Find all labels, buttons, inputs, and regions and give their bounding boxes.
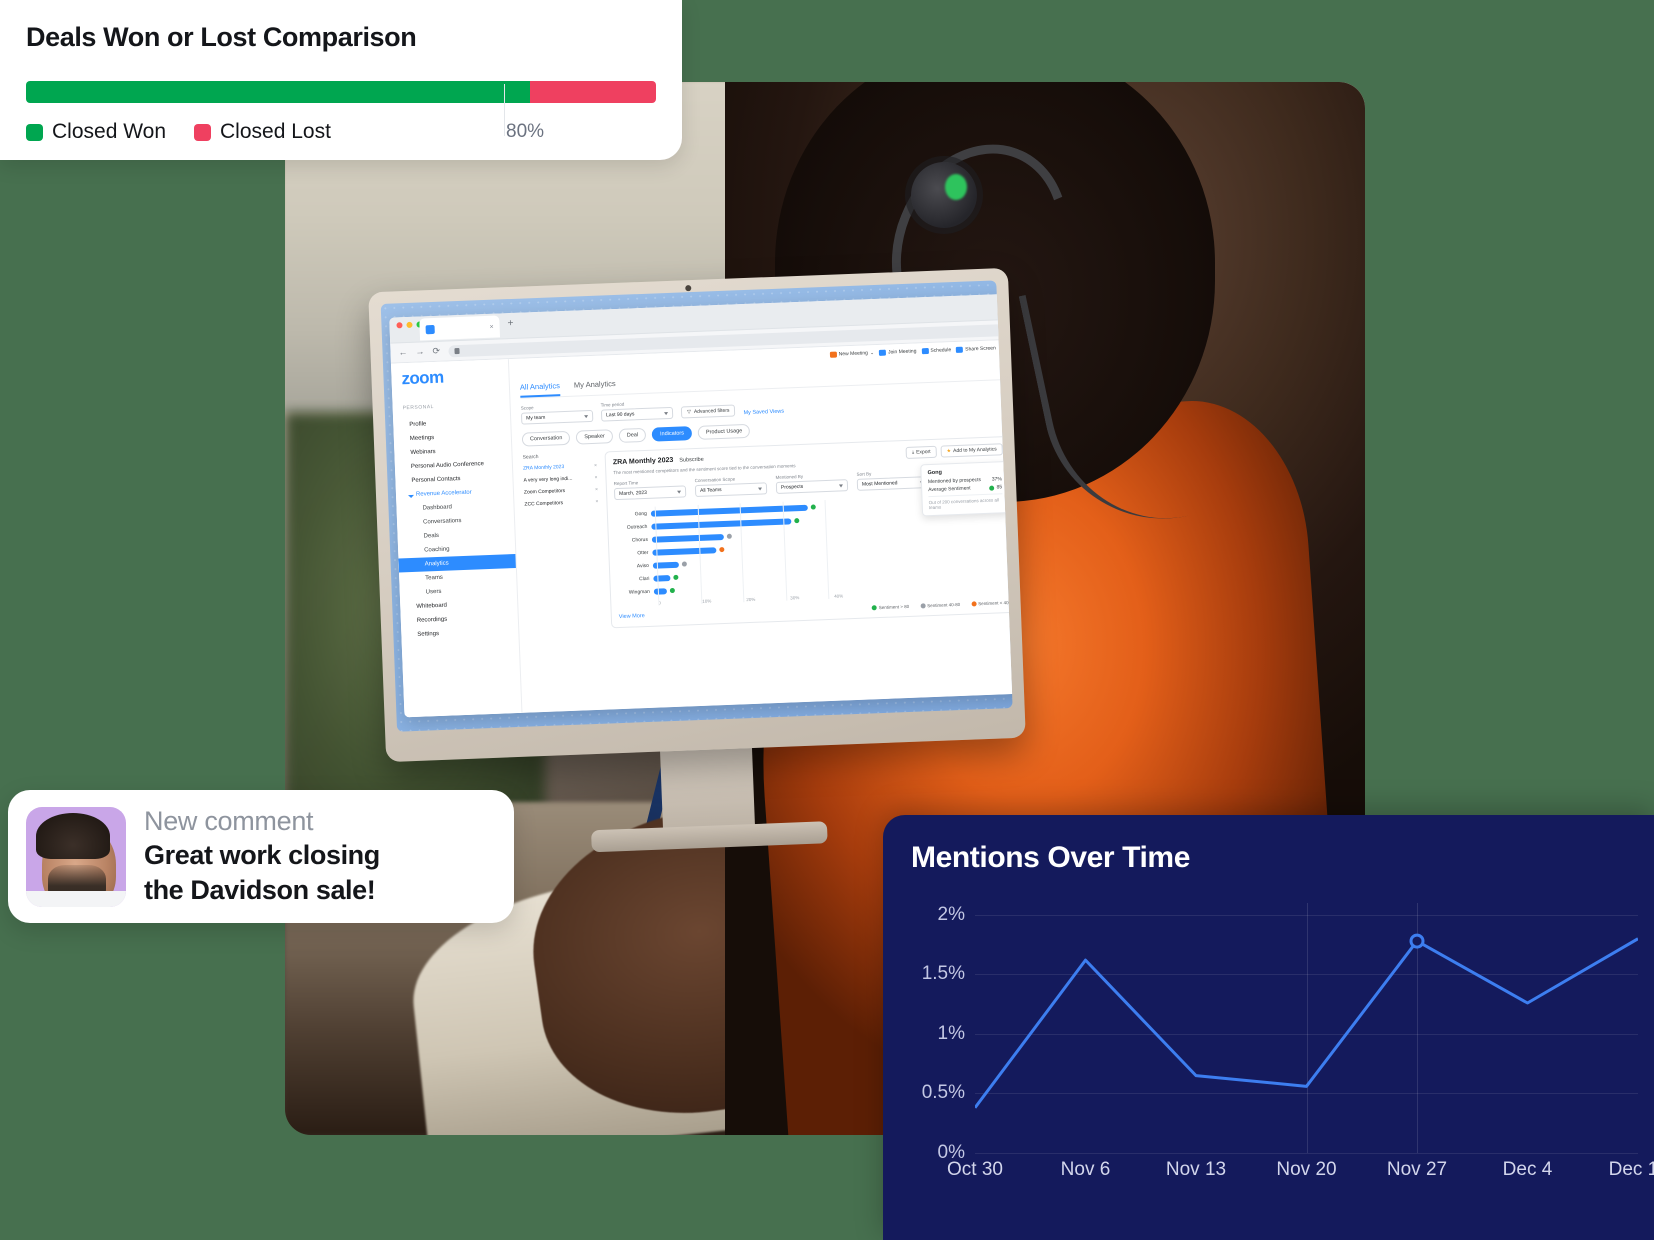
scope-filter: Scope My team	[521, 403, 594, 425]
deals-percent-value: 80%	[506, 121, 544, 143]
sentiment-dot-icon	[670, 588, 675, 593]
filter-icon: ▽	[687, 409, 691, 415]
y-tick-label: 1.5%	[922, 963, 965, 985]
close-window-icon[interactable]	[396, 322, 402, 328]
search-label: Search	[523, 452, 597, 461]
mentions-line-series	[975, 903, 1638, 1153]
x-axis-labels: Oct 30Nov 6Nov 13Nov 20Nov 27Dec 4Dec 11	[975, 1159, 1638, 1189]
deals-comparison-card: Deals Won or Lost Comparison Closed Won …	[0, 0, 682, 160]
closed-won-segment	[26, 81, 530, 103]
closed-lost-segment	[530, 81, 656, 103]
avatar[interactable]	[1001, 344, 1009, 352]
y-tick-label: 1%	[938, 1023, 965, 1045]
x-tick-label: Oct 30	[947, 1159, 1003, 1181]
conversation-scope-filter: Conversation Scope All Teams	[695, 475, 768, 497]
x-tick-label: 40%	[834, 592, 878, 599]
x-tick-label: Nov 20	[1276, 1159, 1336, 1181]
tab-all-analytics[interactable]: All Analytics	[520, 381, 561, 398]
bar-category-label: Wingman	[618, 588, 654, 595]
share-screen-icon	[956, 347, 963, 353]
app-sidebar: PERSONAL Profile Meetings Webinars Perso…	[391, 359, 523, 717]
search-chip[interactable]: ZRA Monthly 2023 ×	[523, 463, 597, 472]
report-title: ZRA Monthly 2023	[613, 457, 674, 466]
closed-lost-label: Closed Lost	[220, 120, 331, 144]
legend-label: Sentiment < 40	[978, 600, 1009, 606]
report-time-value: March, 2023	[619, 490, 647, 497]
pill-product-usage[interactable]: Product Usage	[698, 424, 751, 440]
share-screen-button[interactable]: Share Screen	[956, 345, 996, 353]
avatar	[26, 807, 126, 907]
tooltip-row-label: Average Sentiment	[928, 485, 971, 493]
close-tab-icon[interactable]: ×	[489, 323, 493, 330]
x-tick-label: Nov 6	[1061, 1159, 1111, 1181]
page-title: Deals Won or Lost Comparison	[26, 22, 656, 53]
advanced-filters-label: Advanced filters	[694, 408, 730, 415]
chart-tooltip: Gong Mentioned by prospects 37% Average …	[920, 461, 1010, 516]
closed-won-swatch-icon	[26, 124, 43, 141]
legend-item: Sentiment 40-80	[917, 601, 960, 608]
export-icon: ⤓	[912, 450, 914, 456]
comment-text: New comment Great work closing the David…	[144, 806, 380, 907]
sentiment-dot-icon	[727, 534, 732, 539]
zoom-logo[interactable]: zoom	[401, 368, 444, 390]
legend-item: Sentiment > 80	[869, 603, 910, 610]
close-icon[interactable]: ×	[595, 499, 598, 505]
x-tick-label: Dec 4	[1503, 1159, 1553, 1181]
headset-earcup	[911, 162, 977, 228]
tooltip-row-value: 37%	[992, 476, 1002, 482]
schedule-label: Schedule	[930, 347, 951, 354]
zoom-app: zoom PERSONAL Profile Meetings Webinars …	[391, 340, 1013, 718]
plus-square-icon	[879, 350, 886, 356]
browser-tab[interactable]: ×	[419, 315, 500, 340]
scope-select[interactable]: My team	[521, 410, 593, 425]
headset-led-icon	[945, 174, 967, 200]
add-to-my-analytics-button[interactable]: ★ Add to My Analytics	[940, 443, 1003, 457]
gridline-horizontal	[975, 1153, 1638, 1154]
webcam-icon	[685, 285, 691, 291]
sentiment-legend: Sentiment > 80 Sentiment 40-80	[869, 600, 1009, 610]
time-period-filter: Time period Last 90 days	[601, 400, 674, 422]
bar[interactable]	[653, 575, 670, 582]
search-chip[interactable]: ZCC Competitors ×	[524, 499, 598, 508]
plot-area	[975, 903, 1638, 1153]
bar[interactable]	[653, 561, 679, 568]
search-chip[interactable]: Zoom Competitors ×	[524, 487, 598, 496]
tooltip-row-label: Mentioned by prospects	[928, 477, 981, 485]
sidebar-heading: PERSONAL	[403, 401, 510, 411]
export-label: Export	[916, 449, 931, 456]
add-to-my-analytics-label: Add to My Analytics	[953, 446, 997, 454]
subscribe-button[interactable]: Subscribe	[679, 456, 704, 463]
new-meeting-button[interactable]: New Meeting ⌄	[830, 350, 875, 358]
sidebar-item-settings[interactable]: Settings	[411, 624, 518, 642]
x-tick-label: Dec 11	[1609, 1159, 1654, 1181]
search-column: Search ZRA Monthly 2023 × A very very lo…	[523, 452, 604, 632]
tab-my-analytics[interactable]: My Analytics	[574, 379, 616, 396]
tab-favicon-icon	[425, 324, 434, 333]
highlighted-data-point[interactable]	[1411, 935, 1423, 947]
view-more-link[interactable]: View More	[619, 613, 645, 620]
report-time-select[interactable]: March, 2023	[614, 485, 686, 500]
closed-won-label: Closed Won	[52, 120, 166, 144]
join-meeting-label: Join Meeting	[888, 348, 917, 355]
mentioned-by-select[interactable]: Prospects	[776, 479, 848, 494]
conversation-scope-value: All Teams	[700, 487, 722, 494]
minimize-window-icon[interactable]	[406, 322, 412, 328]
mentioned-by-value: Prospects	[781, 484, 803, 491]
scope-value: My team	[526, 415, 545, 422]
sort-by-filter: Sort By Most Mentioned	[856, 469, 929, 491]
monitor-stand-neck	[660, 743, 755, 834]
sentiment-mid-icon	[920, 603, 925, 608]
chevron-down-icon	[758, 487, 762, 490]
share-screen-label: Share Screen	[965, 345, 996, 352]
search-chip[interactable]: A very very long indi... ×	[523, 475, 597, 484]
mentioned-by-filter: Mentioned By Prospects	[776, 472, 849, 494]
tooltip-row: Average Sentiment 85	[928, 484, 1002, 493]
lock-icon	[454, 348, 459, 354]
app-topbar: New Meeting ⌄ Join Meeting Schedule	[830, 344, 1009, 359]
forward-icon[interactable]: →	[415, 347, 424, 356]
chevron-down-icon	[839, 484, 843, 487]
schedule-button[interactable]: Schedule	[921, 347, 951, 354]
search-chip-label: A very very long indi...	[523, 476, 572, 484]
chevron-down-icon[interactable]: ⌄	[870, 350, 874, 356]
mentions-chart-plot: 0%0.5%1%1.5%2% Oct 30Nov 6Nov 13Nov 20No…	[911, 903, 1646, 1203]
sentiment-dot-icon	[719, 547, 724, 552]
closed-lost-swatch-icon	[194, 124, 211, 141]
join-meeting-button[interactable]: Join Meeting	[879, 348, 917, 355]
browser-window: × + ← → ⟳ zoom	[389, 294, 1012, 718]
pill-conversation[interactable]: Conversation	[522, 431, 571, 447]
new-comment-card[interactable]: New comment Great work closing the David…	[8, 790, 514, 923]
tooltip-note: Out of 200 conversations across all team…	[928, 493, 1002, 510]
conversation-scope-select[interactable]: All Teams	[695, 482, 767, 497]
comment-message-line-2: the Davidson sale!	[144, 874, 380, 907]
bar-category-label: Chorus	[616, 536, 652, 543]
advanced-filters-button[interactable]: ▽ Advanced filters	[681, 404, 736, 418]
saved-views-button[interactable]: My Saved Views	[743, 409, 784, 417]
legend-item-closed-won: Closed Won	[26, 120, 166, 144]
export-button[interactable]: ⤓ Export	[906, 446, 937, 459]
new-tab-button[interactable]: +	[507, 319, 513, 329]
bar[interactable]	[652, 533, 724, 542]
bar-category-label: Clari	[617, 575, 653, 582]
report-time-filter: Report Time March, 2023	[614, 478, 687, 500]
monitor-bezel: × + ← → ⟳ zoom	[368, 268, 1026, 762]
search-chip-label: ZRA Monthly 2023	[523, 464, 564, 472]
close-icon[interactable]: ×	[594, 463, 597, 469]
pill-speaker[interactable]: Speaker	[576, 429, 613, 444]
back-icon[interactable]: ←	[398, 348, 407, 357]
analytics-body: Search ZRA Monthly 2023 × A very very lo…	[523, 436, 1013, 632]
legend-label: Sentiment 40-80	[927, 601, 960, 607]
star-icon: ★	[947, 448, 952, 454]
bar[interactable]	[652, 547, 716, 555]
desktop-monitor: × + ← → ⟳ zoom	[368, 268, 1026, 762]
pill-deal[interactable]: Deal	[619, 428, 647, 443]
chevron-down-icon	[584, 415, 588, 418]
tooltip-row-value: 85	[986, 484, 1002, 491]
close-icon[interactable]: ×	[595, 487, 598, 493]
sentiment-dot-icon	[990, 485, 995, 490]
y-tick-label: 0.5%	[922, 1082, 965, 1104]
legend-label: Sentiment > 80	[879, 603, 910, 609]
deals-progress-bar	[26, 81, 656, 103]
sentiment-dot-icon	[794, 518, 799, 523]
video-camera-icon	[830, 352, 837, 358]
search-chip-label: Zoom Competitors	[524, 488, 565, 496]
tooltip-sentiment-value: 85	[996, 484, 1002, 490]
avatar-shirt	[26, 891, 126, 907]
sort-by-select[interactable]: Most Mentioned	[857, 476, 929, 491]
legend-item: Sentiment < 40	[968, 600, 1009, 607]
y-tick-label: 2%	[938, 904, 965, 926]
bar-category-label: Outreach	[615, 523, 651, 530]
time-period-select[interactable]: Last 90 days	[601, 407, 673, 422]
sentiment-dot-icon	[673, 575, 678, 580]
report-card: ⤓ Export ★ Add to My Analytics	[604, 436, 1012, 628]
reload-icon[interactable]: ⟳	[432, 347, 440, 356]
sentiment-low-icon	[971, 601, 976, 606]
mentions-over-time-card: Mentions Over Time 0%0.5%1%1.5%2% Oct 30…	[883, 815, 1654, 1240]
monitor-screen: × + ← → ⟳ zoom	[381, 280, 1013, 731]
tooltip-title: Gong	[927, 467, 1001, 476]
y-axis-labels: 0%0.5%1%1.5%2%	[911, 903, 971, 1153]
x-tick-label: 30%	[790, 594, 834, 601]
chevron-down-icon	[677, 490, 681, 493]
sort-by-value: Most Mentioned	[862, 480, 898, 487]
sentiment-high-icon	[872, 605, 877, 610]
mentions-chart-title: Mentions Over Time	[911, 841, 1654, 875]
chevron-down-icon	[664, 412, 668, 415]
time-period-value: Last 90 days	[606, 411, 635, 418]
x-tick-label: Nov 27	[1387, 1159, 1447, 1181]
legend-item-closed-lost: Closed Lost	[194, 120, 331, 144]
comment-message-line-1: Great work closing	[144, 839, 380, 872]
sentiment-dot-icon	[681, 561, 686, 566]
pill-indicators[interactable]: Indicators	[652, 426, 692, 442]
bar-category-label: Gong	[615, 510, 651, 517]
close-icon[interactable]: ×	[594, 475, 597, 481]
x-tick-label: 10%	[702, 597, 746, 604]
bar-category-label: Aviso	[617, 562, 653, 569]
app-main: New Meeting ⌄ Join Meeting Schedule	[509, 340, 1013, 713]
x-tick-label: 0	[658, 599, 702, 606]
comment-label: New comment	[144, 806, 380, 837]
bar[interactable]	[654, 588, 667, 594]
search-chip-label: ZCC Competitors	[524, 500, 563, 507]
x-tick-label: Nov 13	[1166, 1159, 1226, 1181]
calendar-icon	[921, 348, 928, 354]
deals-legend: Closed Won Closed Lost 80%	[26, 120, 656, 144]
sentiment-dot-icon	[811, 504, 816, 509]
bar-category-label: Otter	[616, 549, 652, 556]
new-meeting-label: New Meeting	[839, 350, 868, 357]
x-tick-label: 20%	[746, 595, 790, 602]
avatar-hair	[36, 813, 110, 859]
